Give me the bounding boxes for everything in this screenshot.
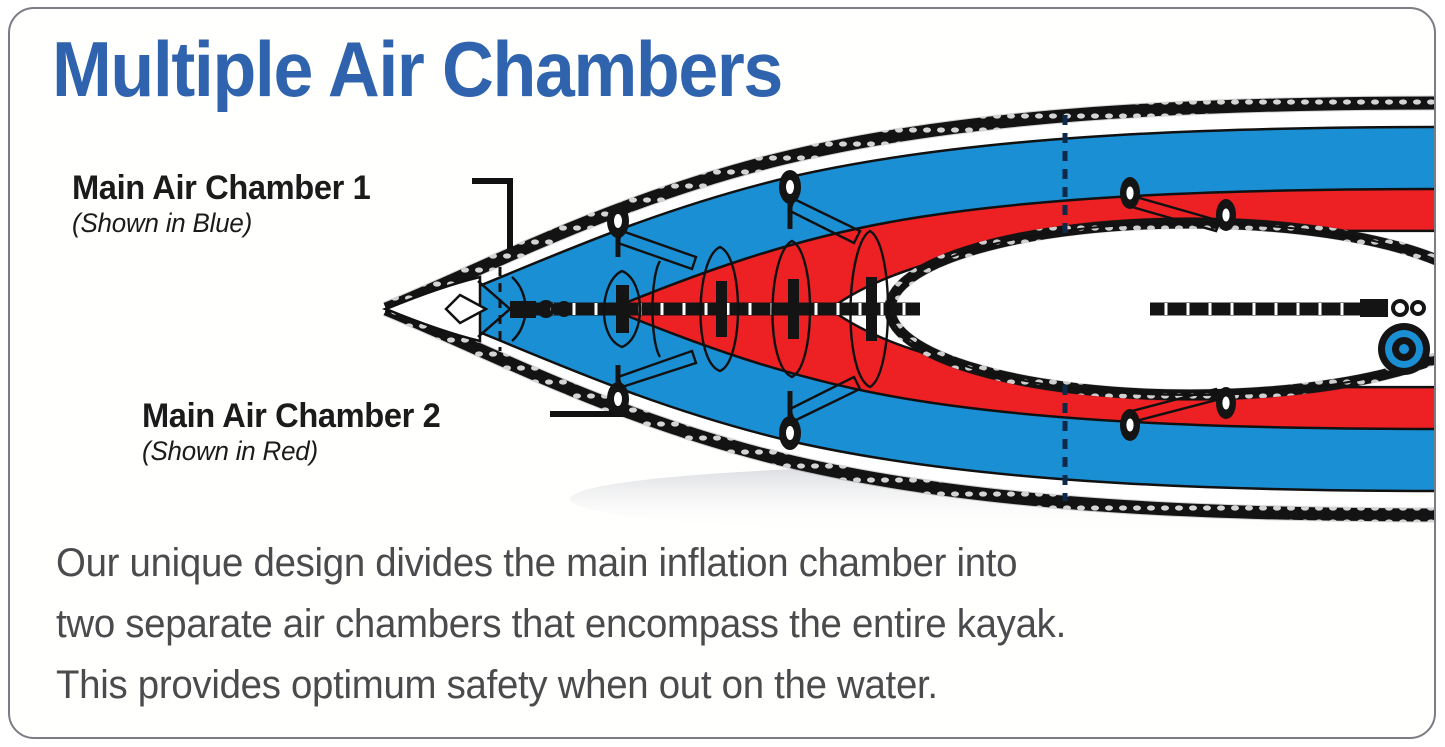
inflation-valve — [1378, 323, 1430, 375]
description-paragraph: Our unique design divides the main infla… — [56, 533, 1346, 716]
description-line-1: Our unique design divides the main infla… — [56, 533, 1294, 594]
callout-1-subtitle: (Shown in Blue) — [72, 207, 370, 239]
description-line-2: two separate air chambers that encompass… — [56, 594, 1294, 655]
kayak-diagram-svg — [360, 81, 1436, 531]
callout-main-air-chamber-1: Main Air Chamber 1 (Shown in Blue) — [72, 169, 383, 239]
kayak-diagram — [360, 81, 1436, 531]
callout-1-title: Main Air Chamber 1 — [72, 169, 370, 207]
description-line-3: This provides optimum safety when out on… — [56, 655, 1294, 716]
infographic-card: Multiple Air Chambers Main Air Chamber 1… — [8, 7, 1436, 739]
